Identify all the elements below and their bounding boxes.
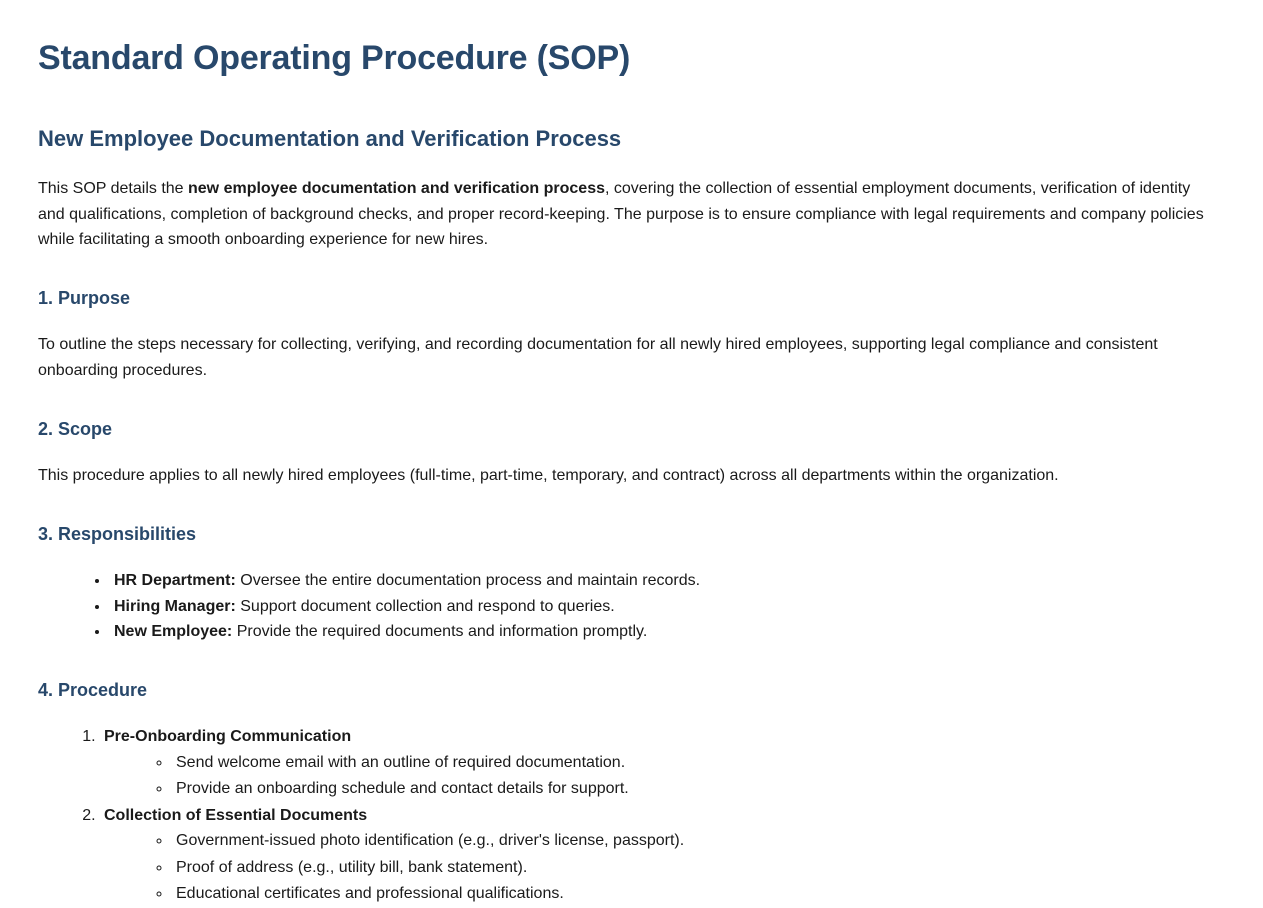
list-item: Provide an onboarding schedule and conta…: [172, 776, 1223, 803]
section-heading-purpose: 1. Purpose: [38, 287, 1223, 310]
procedure-list: Pre-Onboarding Communication Send welcom…: [38, 724, 1223, 908]
responsibility-text: Oversee the entire documentation process…: [236, 572, 700, 589]
list-item: New Employee: Provide the required docum…: [110, 619, 1223, 645]
list-item: Educational certificates and professiona…: [172, 881, 1223, 908]
responsibility-role: HR Department:: [114, 572, 236, 589]
section-heading-procedure: 4. Procedure: [38, 679, 1223, 702]
list-item: HR Department: Oversee the entire docume…: [110, 568, 1223, 594]
list-item: Pre-Onboarding Communication Send welcom…: [100, 724, 1223, 803]
procedure-substep-list: Government-issued photo identification (…: [104, 828, 1223, 908]
list-item: Proof of address (e.g., utility bill, ba…: [172, 855, 1223, 882]
procedure-step-title: Pre-Onboarding Communication: [104, 728, 351, 745]
responsibility-role: Hiring Manager:: [114, 598, 236, 615]
page-title: Standard Operating Procedure (SOP): [38, 38, 1223, 79]
responsibility-text: Provide the required documents and infor…: [232, 623, 647, 640]
procedure-step-title: Collection of Essential Documents: [104, 807, 367, 824]
list-item: Hiring Manager: Support document collect…: [110, 594, 1223, 620]
list-item: Collection of Essential Documents Govern…: [100, 803, 1223, 908]
section-body-scope: This procedure applies to all newly hire…: [38, 463, 1210, 489]
list-item: Send welcome email with an outline of re…: [172, 750, 1223, 777]
intro-paragraph: This SOP details the new employee docume…: [38, 176, 1210, 253]
section-heading-responsibilities: 3. Responsibilities: [38, 523, 1223, 546]
section-body-purpose: To outline the steps necessary for colle…: [38, 332, 1210, 383]
document-page: Standard Operating Procedure (SOP) New E…: [0, 0, 1263, 908]
document-subtitle: New Employee Documentation and Verificat…: [38, 125, 1223, 153]
intro-text-part1: This SOP details the: [38, 180, 188, 197]
section-heading-scope: 2. Scope: [38, 418, 1223, 441]
responsibility-role: New Employee:: [114, 623, 232, 640]
procedure-substep-list: Send welcome email with an outline of re…: [104, 750, 1223, 803]
intro-emphasis: new employee documentation and verificat…: [188, 180, 605, 197]
responsibility-text: Support document collection and respond …: [236, 598, 615, 615]
responsibilities-list: HR Department: Oversee the entire docume…: [38, 568, 1223, 645]
